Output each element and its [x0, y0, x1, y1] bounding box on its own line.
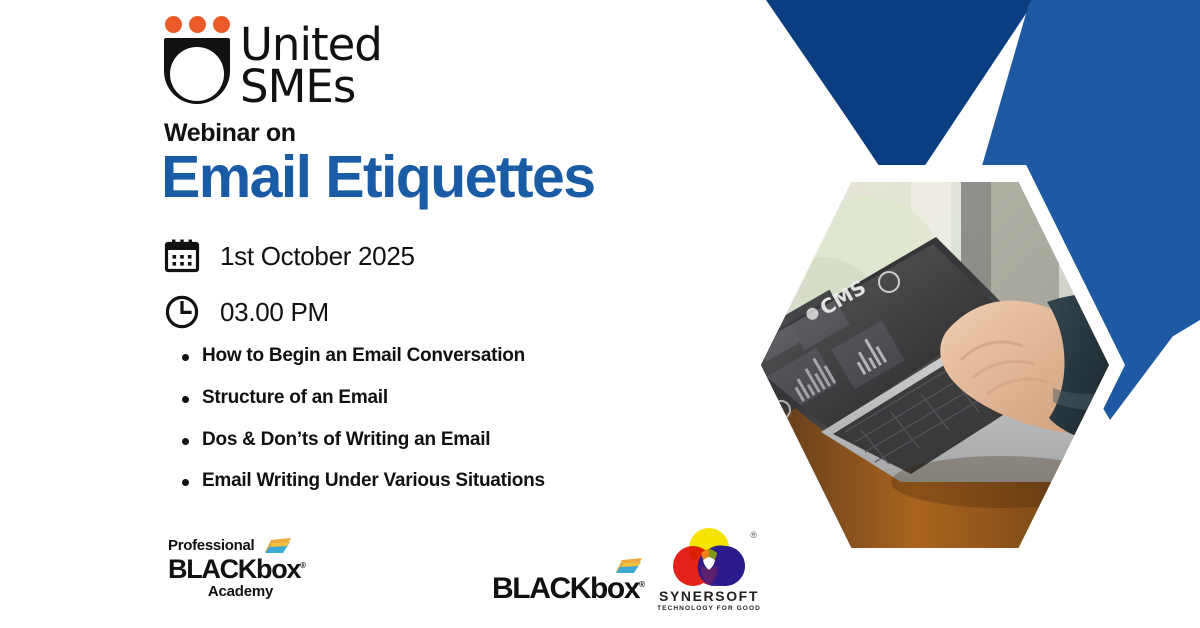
pba-top-row: Professional — [168, 536, 313, 556]
list-item: Dos & Don’ts of Writing an Email — [174, 429, 545, 452]
synersoft-trademark: ® — [750, 530, 757, 540]
bbx-black-text: BLACK — [492, 572, 590, 605]
logo-dot-1 — [165, 16, 182, 33]
event-meta: 1st October 2025 03.00 PM — [164, 232, 415, 344]
list-item: Email Writing Under Various Situations — [174, 470, 545, 493]
calendar-icon — [164, 238, 208, 274]
pba-academy-label: Academy — [168, 583, 313, 600]
event-date-row: 1st October 2025 — [164, 232, 415, 280]
logo-square-shape — [164, 38, 230, 104]
event-date: 1st October 2025 — [220, 241, 415, 272]
logo-dots — [165, 16, 230, 33]
pba-box-text: box — [256, 554, 300, 584]
logo-dot-3 — [213, 16, 230, 33]
venn-circles-icon: ® — [663, 528, 755, 586]
list-item: How to Begin an Email Conversation — [174, 345, 545, 368]
brand-name-line2: SMEs — [240, 66, 382, 108]
topic-label: How to Begin an Email Conversation — [202, 345, 525, 368]
blackbox-wordmark: BLACKbox® — [492, 574, 644, 604]
event-time: 03.00 PM — [220, 297, 329, 328]
bullet-dot-icon — [182, 354, 189, 361]
pba-black-text: BLACK — [168, 554, 256, 584]
partner-logo-synersoft: ® SYNERSOFT TECHNOLOGY FOR GOOD — [654, 528, 764, 612]
brand-wordmark: United SMEs — [240, 16, 382, 108]
pba-professional-label: Professional — [168, 537, 254, 554]
bbx-trademark: ® — [639, 580, 644, 589]
partner-logo-professional-blackbox-academy: Professional BLACKbox® Academy — [168, 536, 313, 600]
page-title: Email Etiquettes — [161, 148, 594, 207]
topic-label: Email Writing Under Various Situations — [202, 470, 545, 493]
content-column: United SMEs Webinar on Email Etiquettes — [162, 0, 762, 628]
clock-icon — [164, 294, 208, 330]
united-smes-logo-mark — [162, 16, 234, 104]
synersoft-tagline: TECHNOLOGY FOR GOOD — [654, 605, 764, 612]
event-time-row: 03.00 PM — [164, 288, 415, 336]
bbx-box-text: box — [590, 572, 639, 605]
partner-logo-blackbox: BLACKbox® — [492, 556, 644, 604]
synersoft-name: SYNERSOFT — [654, 588, 764, 604]
bullet-dot-icon — [182, 396, 189, 403]
list-item: Structure of an Email — [174, 387, 545, 410]
folder-icon — [263, 536, 293, 556]
bullet-dot-icon — [182, 479, 189, 486]
partner-logos: Professional BLACKbox® Academy — [162, 528, 632, 614]
topics-list: How to Begin an Email Conversation Struc… — [174, 345, 545, 512]
hexagon-photo-frame: CMS — [745, 165, 1125, 565]
webinar-banner: CMS — [0, 0, 1200, 628]
logo-dot-2 — [189, 16, 206, 33]
topic-label: Dos & Don’ts of Writing an Email — [202, 429, 490, 452]
logo-inner-circle — [170, 47, 224, 101]
pba-trademark: ® — [300, 561, 305, 570]
bullet-dot-icon — [182, 438, 189, 445]
pba-blackbox-wordmark: BLACKbox® — [168, 556, 313, 583]
brand-logo: United SMEs — [162, 16, 382, 108]
topic-label: Structure of an Email — [202, 387, 388, 410]
